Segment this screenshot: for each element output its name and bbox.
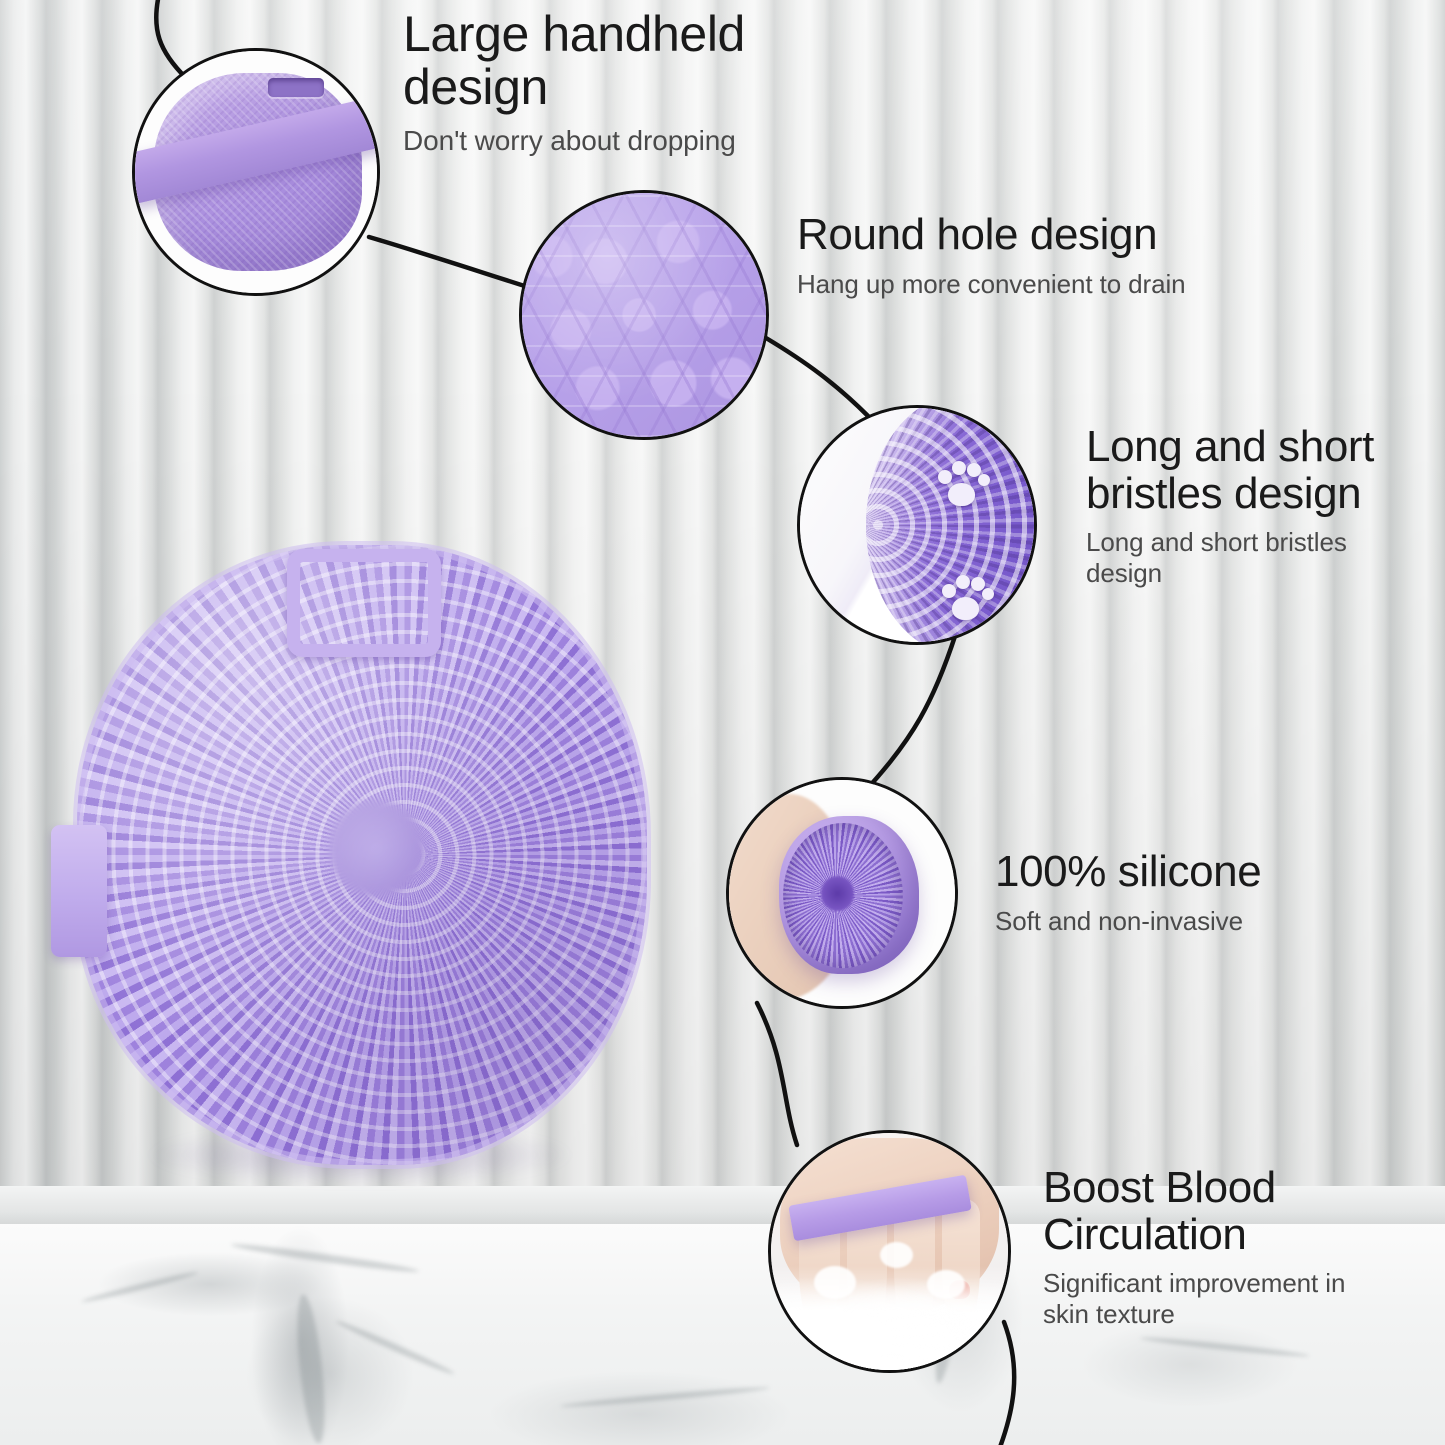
connector-3-4 bbox=[866, 630, 957, 790]
callout-subtitle: Don't worry about dropping bbox=[403, 124, 823, 157]
callout-subtitle: Long and short bristles design bbox=[1086, 527, 1416, 588]
paw-print-bristle-icon bbox=[936, 460, 988, 512]
product-infographic: Large handheld design Don't worry about … bbox=[0, 0, 1445, 1445]
callout-large-handheld-design: Large handheld design Don't worry about … bbox=[403, 8, 823, 157]
hang-hole bbox=[287, 549, 441, 657]
callout-round-hole-design: Round hole design Hang up more convenien… bbox=[797, 212, 1267, 299]
inset-photo-round-hole-design bbox=[519, 190, 769, 440]
hang-hole bbox=[268, 78, 324, 97]
callout-100-percent-silicone: 100% silicone Soft and non-invasive bbox=[995, 849, 1355, 936]
callout-title: Round hole design bbox=[797, 212, 1267, 259]
inset-photo-boost-blood-circulation bbox=[768, 1130, 1011, 1373]
soap-foam bbox=[771, 1266, 1008, 1370]
connector-4-5 bbox=[757, 1003, 797, 1145]
callout-title: 100% silicone bbox=[995, 849, 1355, 896]
inset-photo-100-percent-silicone bbox=[726, 777, 958, 1009]
callout-subtitle: Significant improvement in skin texture bbox=[1043, 1268, 1403, 1329]
callout-subtitle: Soft and non-invasive bbox=[995, 906, 1355, 937]
connector-2-3 bbox=[766, 338, 868, 416]
callout-boost-blood-circulation: Boost Blood Circulation Significant impr… bbox=[1043, 1165, 1403, 1330]
callout-title: Large handheld design bbox=[403, 8, 823, 114]
paw-print-bristle-icon bbox=[940, 574, 992, 626]
main-product-image bbox=[55, 525, 675, 1190]
hand-strap bbox=[51, 825, 107, 957]
callout-title: Long and short bristles design bbox=[1086, 424, 1416, 517]
inset-photo-large-handheld-design bbox=[132, 48, 380, 296]
callout-subtitle: Hang up more convenient to drain bbox=[797, 269, 1267, 300]
callout-title: Boost Blood Circulation bbox=[1043, 1165, 1403, 1258]
callout-long-and-short-bristles-design: Long and short bristles design Long and … bbox=[1086, 424, 1416, 589]
inset-photo-bristles-design bbox=[797, 405, 1037, 645]
